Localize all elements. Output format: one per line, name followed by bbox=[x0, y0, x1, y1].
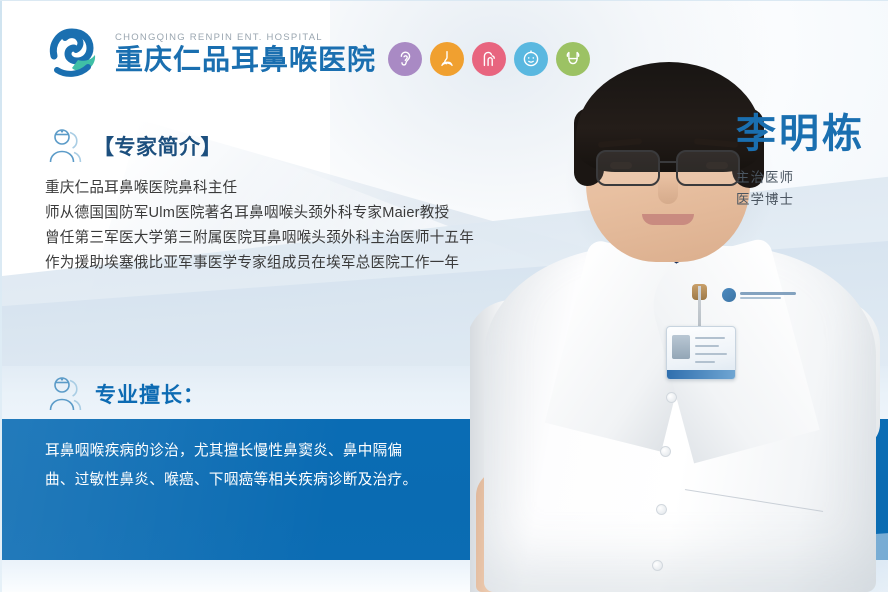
doctor-name: 李明栋 bbox=[736, 112, 866, 157]
portrait-mouth bbox=[642, 214, 694, 225]
hospital-name-en: CHONGQING RENPIN ENT. HOSPITAL bbox=[115, 32, 376, 43]
eyeglass-lens-left bbox=[596, 150, 660, 186]
specialty-title: 专业擅长： bbox=[95, 379, 205, 409]
doctor-profile-banner: CHONGQING RENPIN ENT. HOSPITAL 重庆仁品耳鼻喉医院 bbox=[0, 0, 888, 592]
expert-intro-section: 【专家简介】 重庆仁品耳鼻喉医院鼻科主任 师从德国国防军Ulm医院著名耳鼻咽喉头… bbox=[45, 126, 565, 276]
specialty-line: 曲、过敏性鼻炎、喉癌、下咽癌等相关疾病诊断及治疗。 bbox=[45, 466, 475, 495]
portrait-coat-button bbox=[652, 560, 663, 571]
coat-logo-text bbox=[740, 292, 796, 299]
doctor-portrait bbox=[470, 0, 888, 592]
thyroid-icon-glyph bbox=[562, 48, 584, 70]
throat-icon-glyph bbox=[478, 48, 500, 70]
specialty-header: 专业擅长： bbox=[45, 374, 205, 414]
doctor-title: 医学博士 bbox=[736, 189, 866, 211]
hospital-logo-text: CHONGQING RENPIN ENT. HOSPITAL 重庆仁品耳鼻喉医院 bbox=[115, 32, 376, 76]
badge-text-line bbox=[695, 361, 715, 363]
portrait-id-badge bbox=[666, 326, 736, 380]
expert-intro-header: 【专家简介】 bbox=[45, 126, 565, 166]
hospital-logo[interactable]: CHONGQING RENPIN ENT. HOSPITAL 重庆仁品耳鼻喉医院 bbox=[45, 26, 376, 82]
expert-intro-title: 【专家简介】 bbox=[93, 131, 222, 161]
ear-icon[interactable] bbox=[388, 42, 422, 76]
badge-photo bbox=[672, 335, 690, 359]
throat-icon[interactable] bbox=[472, 42, 506, 76]
doctor-titles: 主治医师 医学博士 bbox=[736, 167, 866, 211]
expert-intro-line: 师从德国国防军Ulm医院著名耳鼻咽喉头颈外科专家Maier教授 bbox=[45, 201, 565, 226]
doctor-avatar-icon bbox=[45, 126, 87, 166]
specialty-line: 耳鼻咽喉疾病的诊治，尤其擅长慢性鼻窦炎、鼻中隔偏 bbox=[45, 437, 475, 466]
badge-text-line bbox=[695, 337, 725, 339]
doctor-avatar-icon bbox=[45, 374, 87, 414]
eyeglass-bridge bbox=[658, 161, 678, 163]
portrait-coat-button bbox=[660, 446, 671, 457]
badge-text-line bbox=[695, 353, 727, 355]
portrait-eyeglasses bbox=[594, 150, 742, 184]
expert-intro-line: 重庆仁品耳鼻喉医院鼻科主任 bbox=[45, 176, 565, 201]
badge-text-line bbox=[695, 345, 719, 347]
hospital-name-cn: 重庆仁品耳鼻喉医院 bbox=[115, 45, 376, 76]
portrait-coat-logo bbox=[722, 286, 796, 304]
nose-icon-glyph bbox=[436, 48, 458, 70]
specialty-icon-row bbox=[388, 42, 590, 76]
nose-icon[interactable] bbox=[430, 42, 464, 76]
child-icon-glyph bbox=[520, 48, 542, 70]
eyeglass-lens-right bbox=[676, 150, 740, 186]
portrait-coat-button bbox=[666, 392, 677, 403]
page-left-edge-rule bbox=[0, 0, 2, 592]
expert-intro-line: 曾任第三军医大学第三附属医院耳鼻咽喉头颈外科主治医师十五年 bbox=[45, 226, 565, 251]
child-icon[interactable] bbox=[514, 42, 548, 76]
doctor-title: 主治医师 bbox=[736, 167, 866, 189]
portrait-coat-button bbox=[656, 504, 667, 515]
portrait-badge-cord bbox=[698, 286, 701, 328]
coat-logo-mark bbox=[722, 288, 736, 302]
hospital-swirl-logo-icon bbox=[45, 26, 103, 82]
expert-intro-line: 作为援助埃塞俄比亚军事医学专家组成员在埃军总医院工作一年 bbox=[45, 251, 565, 276]
thyroid-icon[interactable] bbox=[556, 42, 590, 76]
ear-icon-glyph bbox=[394, 48, 416, 70]
specialty-description: 耳鼻咽喉疾病的诊治，尤其擅长慢性鼻窦炎、鼻中隔偏 曲、过敏性鼻炎、喉癌、下咽癌等… bbox=[45, 437, 475, 495]
expert-intro-lines: 重庆仁品耳鼻喉医院鼻科主任 师从德国国防军Ulm医院著名耳鼻咽喉头颈外科专家Ma… bbox=[45, 176, 565, 276]
doctor-name-block: 李明栋 主治医师 医学博士 bbox=[736, 112, 866, 211]
badge-footer-bar bbox=[667, 370, 735, 379]
